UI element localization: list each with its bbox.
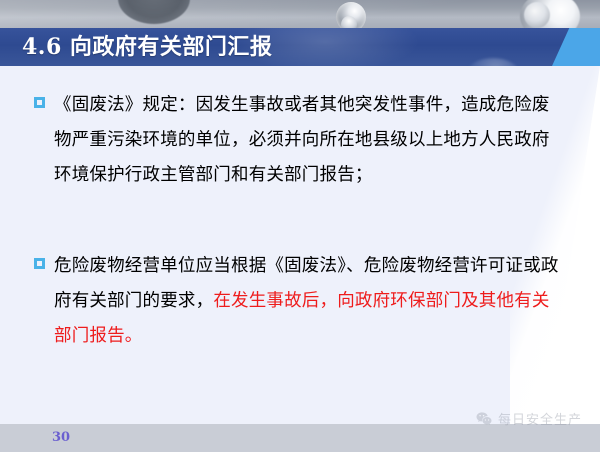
bullet-item: 《固废法》规定：因发生事故或者其他突发性事件，造成危险废物严重污染环境的单位，必… [30, 88, 566, 193]
watermark: 每日安全生产 [475, 409, 582, 428]
slide-footer-bar [0, 424, 600, 452]
metal-band-sheen [0, 0, 600, 28]
slide-content: 《固废法》规定：因发生事故或者其他突发性事件，造成危险废物严重污染环境的单位，必… [0, 74, 600, 414]
presentation-slide: 4.6 向政府有关部门汇报 《固废法》规定：因发生事故或者其他突发性事件，造成危… [0, 0, 600, 452]
bullet-paragraph: 危险废物经营单位应当根据《固废法》、危险废物经营许可证或政府有关部门的要求，在发… [54, 249, 566, 354]
slide-title-bar: 4.6 向政府有关部门汇报 [0, 28, 600, 66]
page-title: 4.6 向政府有关部门汇报 [22, 28, 272, 66]
page-number: 30 [52, 424, 70, 452]
bullet-paragraph: 《固废法》规定：因发生事故或者其他突发性事件，造成危险废物严重污染环境的单位，必… [54, 88, 566, 193]
bullet-text-segment: 《固废法》规定：因发生事故或者其他突发性事件，造成危险废物严重污染环境的单位，必… [54, 95, 550, 185]
watermark-text: 每日安全生产 [498, 409, 582, 428]
square-outline-bullet-icon [34, 258, 45, 269]
wechat-icon [475, 410, 493, 428]
bullet-item: 危险废物经营单位应当根据《固废法》、危险废物经营许可证或政府有关部门的要求，在发… [30, 249, 566, 354]
header-metal-band [0, 0, 600, 28]
square-outline-bullet-icon [34, 97, 45, 108]
